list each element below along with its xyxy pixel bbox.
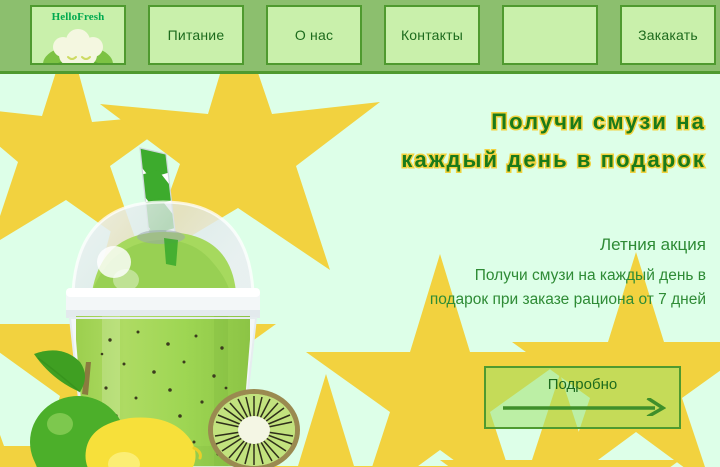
nav-separator [244, 0, 266, 71]
promo-body-line-1: Получи смузи на каждый день в [286, 264, 706, 288]
nav-item-nutrition[interactable]: Питание [148, 5, 244, 65]
promo-banner-page: Получи смузи на каждый день в подарок Ле… [0, 0, 720, 467]
nav-left-gap [0, 0, 30, 71]
nav-item-order[interactable]: Закакать [620, 5, 716, 65]
nav-separator [598, 0, 620, 71]
hero-headline: Получи смузи на каждый день в подарок [236, 103, 706, 179]
details-button-label: Подробно [486, 376, 679, 393]
arrow-right-icon [503, 398, 666, 416]
nav-separator [362, 0, 384, 71]
nav-item-about[interactable]: О нас [266, 5, 362, 65]
promo-title: Летния акция [286, 233, 706, 257]
logo-brand-text: HelloFresh [52, 12, 105, 23]
top-navigation-bar: HelloFresh [0, 0, 720, 74]
nav-item-contacts[interactable]: Контакты [384, 5, 480, 65]
nav-separator [126, 0, 148, 71]
nav-item-empty[interactable] [502, 5, 598, 65]
headline-line-1: Получи смузи на [236, 103, 706, 141]
promo-body: Получи смузи на каждый день в подарок пр… [286, 264, 706, 312]
site-logo[interactable]: HelloFresh [30, 5, 126, 65]
promo-body-line-2: подарок при заказе рациона от 7 дней [286, 288, 706, 312]
smoothie-illustration [18, 140, 308, 467]
headline-line-2: каждый день в подарок [236, 141, 706, 179]
nav-separator [480, 0, 502, 71]
details-button[interactable]: Подробно [484, 366, 681, 429]
promo-block: Летния акция Получи смузи на каждый день… [286, 233, 706, 312]
cauliflower-icon [41, 23, 115, 65]
